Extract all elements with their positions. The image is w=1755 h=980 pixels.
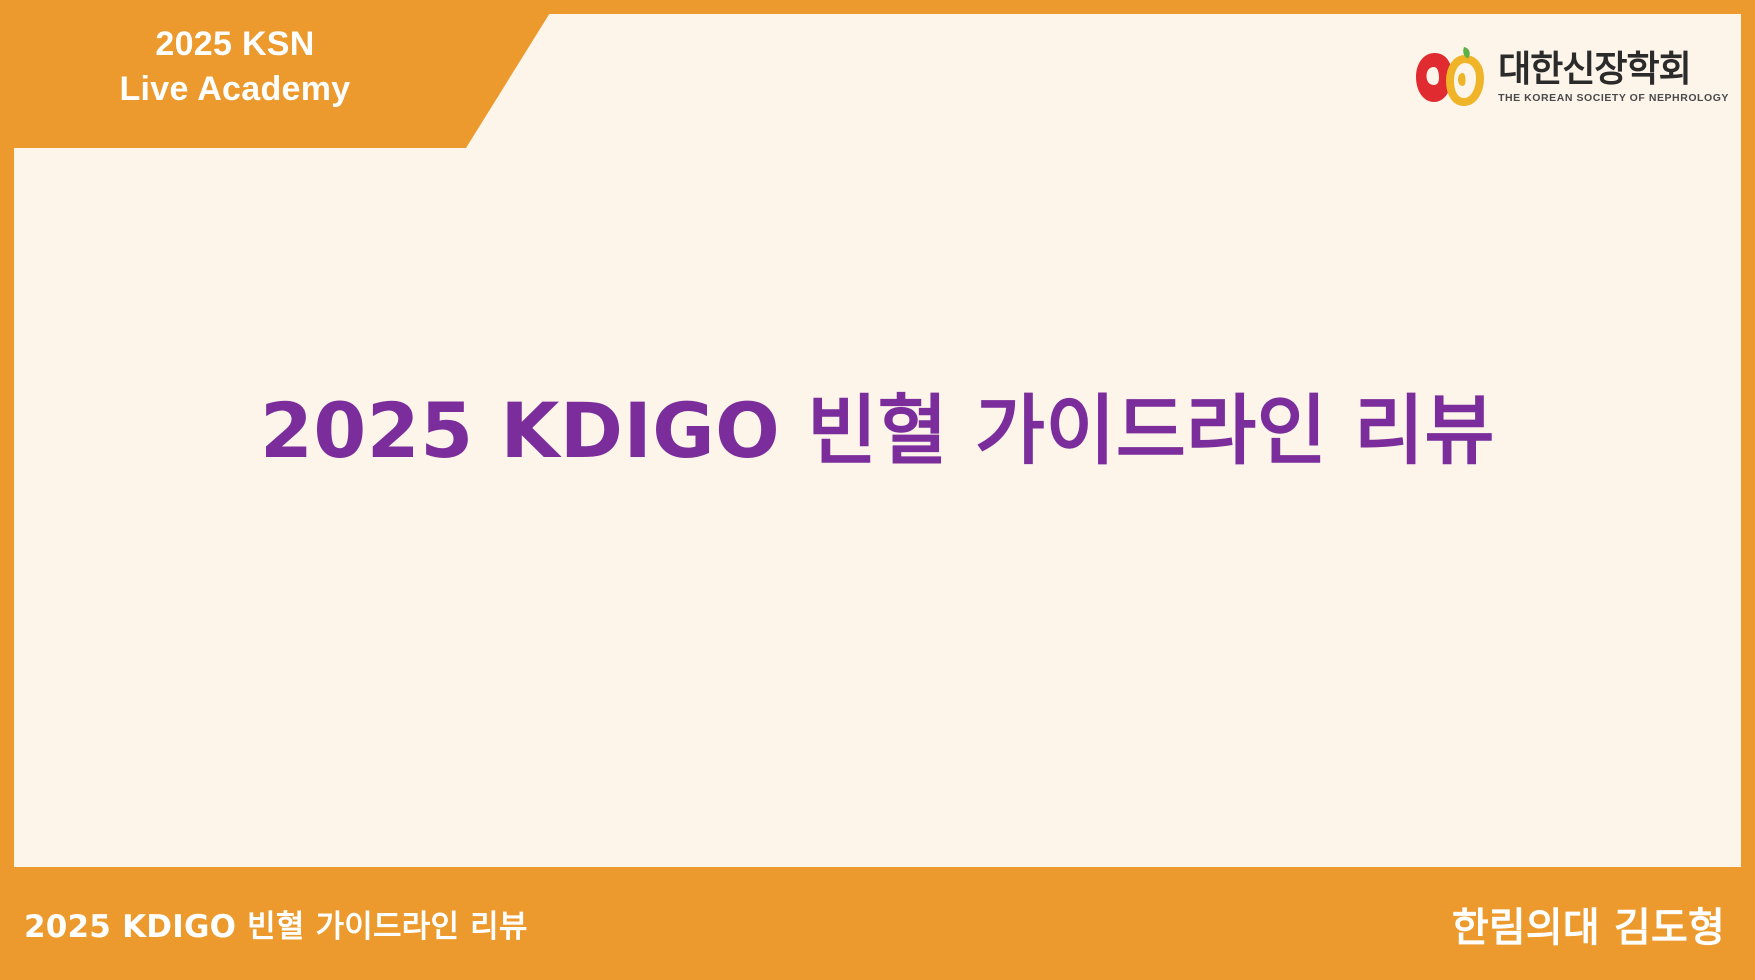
presentation-slide: 2025 KSN Live Academy 대한신장학회 THE KOREAN … bbox=[0, 0, 1755, 980]
event-title-line-1: 2025 KSN bbox=[0, 22, 470, 67]
event-banner-text: 2025 KSN Live Academy bbox=[0, 22, 470, 112]
society-name-english: THE KOREAN SOCIETY OF NEPHROLOGY bbox=[1498, 93, 1729, 104]
footer-bar: 2025 KDIGO 빈혈 가이드라인 리뷰 한림의대 김도형 bbox=[0, 867, 1755, 980]
society-logo: 대한신장학회 THE KOREAN SOCIETY OF NEPHROLOGY bbox=[1412, 45, 1729, 111]
society-logo-text: 대한신장학회 THE KOREAN SOCIETY OF NEPHROLOGY bbox=[1498, 52, 1729, 104]
footer-presenter: 한림의대 김도형 bbox=[1452, 895, 1725, 953]
kidney-logo-icon bbox=[1412, 45, 1484, 111]
footer-topic: 2025 KDIGO 빈혈 가이드라인 리뷰 bbox=[24, 901, 528, 946]
event-title-line-2: Live Academy bbox=[0, 67, 470, 112]
society-name-korean: 대한신장학회 bbox=[1498, 52, 1691, 88]
